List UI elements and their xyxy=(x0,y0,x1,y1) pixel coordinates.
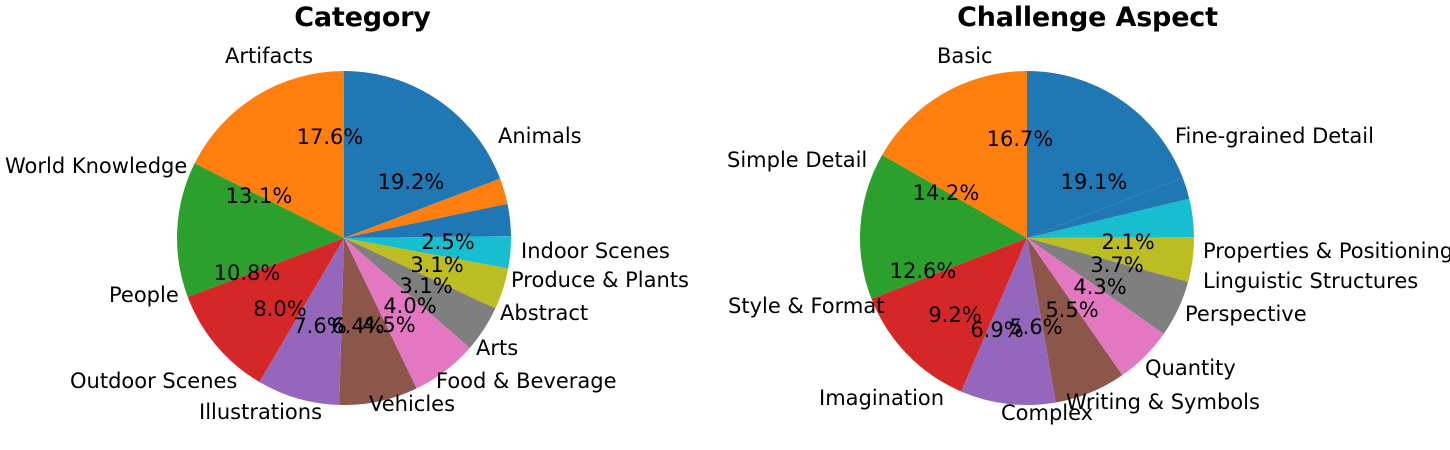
pct-basic: 16.7% xyxy=(987,127,1054,151)
pct-world-knowledge: 13.1% xyxy=(226,184,293,208)
label-writing-symbols: Writing & Symbols xyxy=(1066,390,1260,414)
label-style-format: Style & Format xyxy=(728,294,884,318)
pct-artifacts: 17.6% xyxy=(297,125,364,149)
pie-challenge-aspect xyxy=(725,0,1450,450)
label-artifacts: Artifacts xyxy=(225,44,313,68)
pct-fine-grained-detail: 19.1% xyxy=(1061,170,1128,194)
label-imagination: Imagination xyxy=(819,386,944,410)
pie-chart-figure: Category 19.2% 2.5% 3.1% 3.1% 4.0% 4.5% … xyxy=(0,0,1450,450)
pct-linguistic-structures: 3.7% xyxy=(1090,253,1143,277)
label-indoor-scenes: Indoor Scenes xyxy=(521,239,670,263)
label-linguistic-structures: Linguistic Structures xyxy=(1203,269,1418,293)
pct-indoor-scenes: 2.5% xyxy=(421,230,474,254)
label-simple-detail: Simple Detail xyxy=(727,148,867,172)
label-animals: Animals xyxy=(498,124,582,148)
pct-properties-positioning: 2.1% xyxy=(1101,230,1154,254)
label-produce-plants: Produce & Plants xyxy=(511,268,689,292)
pct-imagination: 9.2% xyxy=(928,303,981,327)
label-basic: Basic xyxy=(937,44,993,68)
label-people: People xyxy=(109,283,179,307)
label-fine-grained-detail: Fine-grained Detail xyxy=(1175,124,1374,148)
label-abstract: Abstract xyxy=(500,301,588,325)
pct-perspective: 4.3% xyxy=(1073,275,1126,299)
label-arts: Arts xyxy=(476,336,518,360)
label-perspective: Perspective xyxy=(1185,302,1307,326)
pct-animals: 19.2% xyxy=(378,170,445,194)
label-vehicles: Vehicles xyxy=(369,392,455,416)
label-food-beverage: Food & Beverage xyxy=(436,369,617,393)
label-properties-positioning: Properties & Positioning xyxy=(1203,239,1450,263)
label-illustrations: Illustrations xyxy=(199,400,322,424)
pct-people: 10.8% xyxy=(214,261,281,285)
pct-simple-detail: 14.2% xyxy=(913,181,980,205)
label-world-knowledge: World Knowledge xyxy=(5,154,187,178)
pct-outdoor-scenes: 8.0% xyxy=(253,297,306,321)
pct-style-format: 12.6% xyxy=(890,259,957,283)
label-complex: Complex xyxy=(1001,401,1093,425)
chart-panel-challenge-aspect: Challenge Aspect 19.1% 2.1% 3.7% 4.3% 5.… xyxy=(725,0,1450,450)
label-quantity: Quantity xyxy=(1145,356,1236,380)
label-outdoor-scenes: Outdoor Scenes xyxy=(70,369,237,393)
chart-panel-category: Category 19.2% 2.5% 3.1% 3.1% 4.0% 4.5% … xyxy=(0,0,725,450)
